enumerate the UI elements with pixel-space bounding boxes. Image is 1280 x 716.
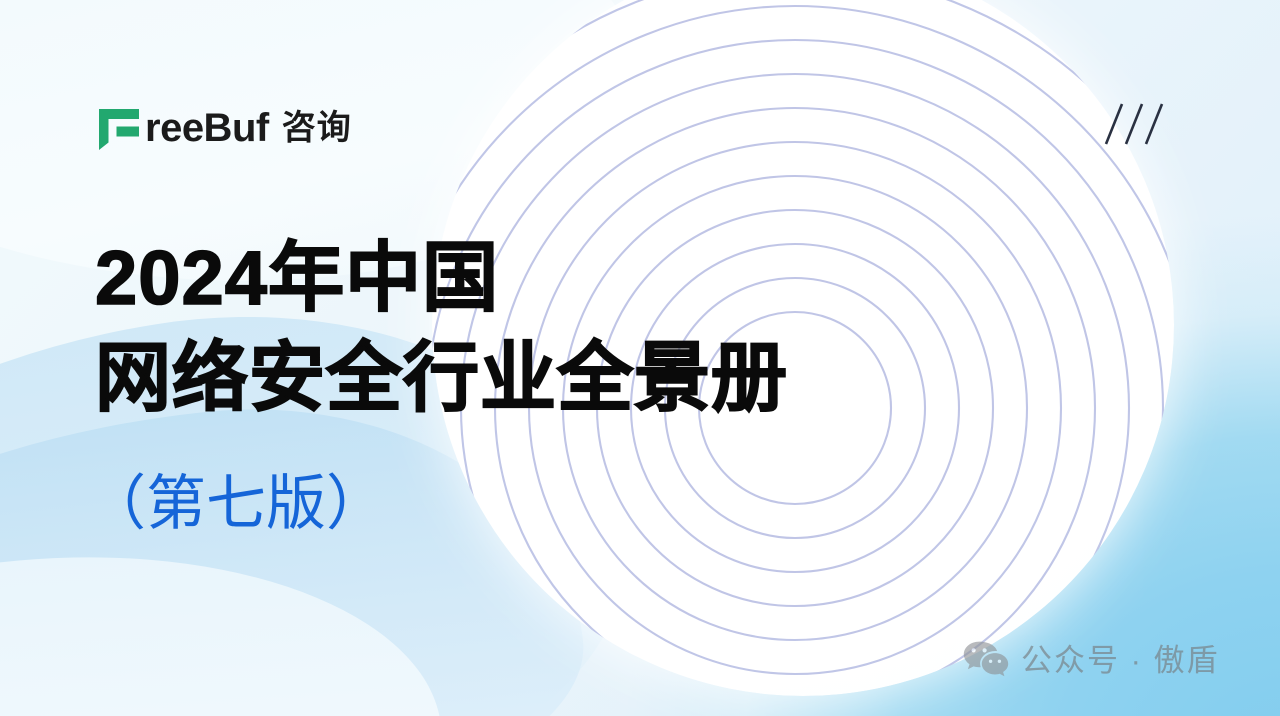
logo-wordmark-cn: 咨询: [282, 111, 352, 145]
triple-slash-icon: [1100, 98, 1168, 152]
watermark-text: 公众号 · 傲盾: [1021, 645, 1220, 676]
freebuf-f-mark-icon: [97, 104, 143, 152]
logo-wordmark: reeBuf: [145, 108, 269, 148]
cover-subtitle-edition: （第七版）: [86, 468, 386, 540]
cover-title-block: 2024年中国 网络安全行业全景册: [95, 238, 788, 420]
report-cover-slide: reeBuf 咨询 2024年中国 网络安全行业全景册 （第七版） 公众号 · …: [0, 0, 1280, 716]
wechat-icon: [963, 640, 1009, 680]
wechat-watermark: 公众号 · 傲盾: [963, 640, 1220, 680]
title-line-1: 2024年中国: [95, 238, 788, 320]
freebuf-logo[interactable]: reeBuf 咨询: [97, 104, 352, 152]
title-line-2: 网络安全行业全景册: [95, 338, 788, 420]
